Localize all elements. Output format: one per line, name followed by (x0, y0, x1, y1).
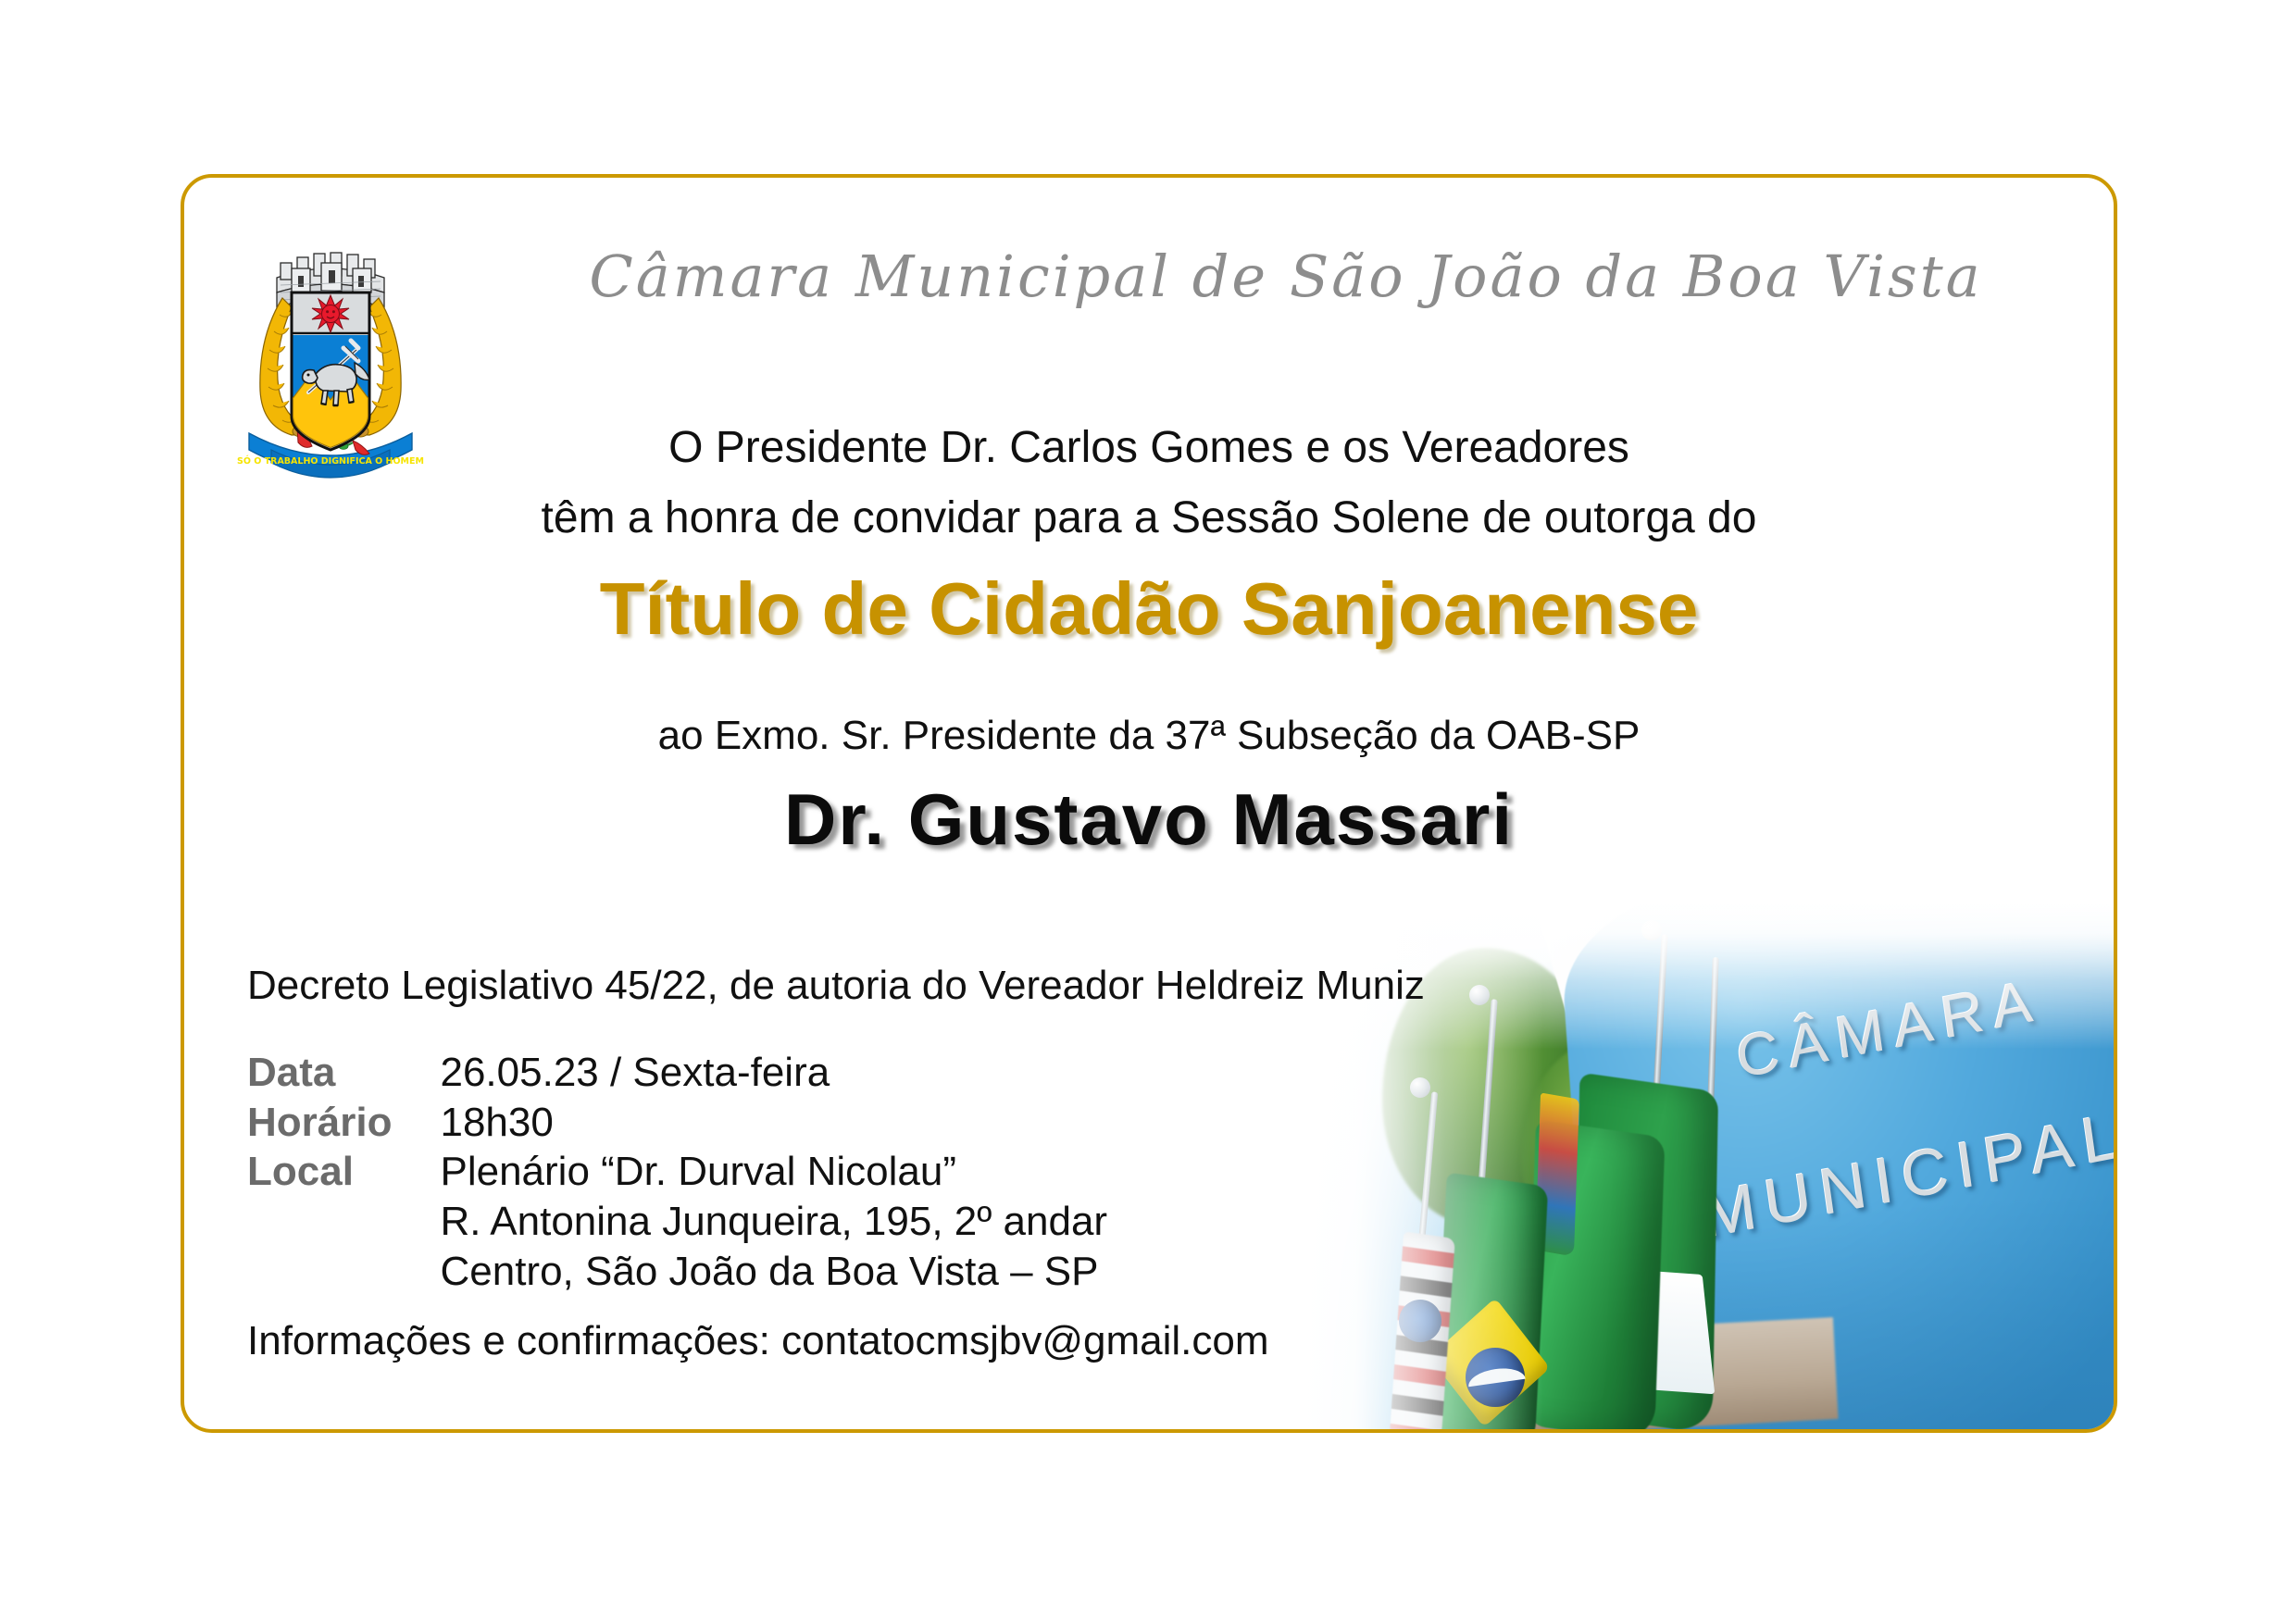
table-row: Data 26.05.23 / Sexta-feira (247, 1048, 1107, 1098)
table-row: Centro, São João da Boa Vista – SP (247, 1247, 1107, 1297)
award-title: Título de Cidadão Sanjoanense (184, 566, 2114, 652)
page-title: Câmara Municipal de São João da Boa Vist… (490, 243, 2082, 310)
detail-value-horario: 18h30 (440, 1098, 1107, 1148)
detail-value-address-line-1: R. Antonina Junqueira, 195, 2º andar (440, 1197, 1107, 1247)
contact-line: Informações e confirmações: contatocmsjb… (247, 1318, 1269, 1364)
pavement (1444, 1317, 1838, 1429)
flag-pole-finial (1410, 1077, 1430, 1098)
recipient-prefix: ao Exmo. Sr. Presidente da 37ª Subseção … (184, 713, 2114, 759)
event-details-table: Data 26.05.23 / Sexta-feira Horário 18h3… (247, 1048, 1107, 1296)
table-row: R. Antonina Junqueira, 195, 2º andar (247, 1197, 1107, 1247)
detail-value-data: 26.05.23 / Sexta-feira (440, 1048, 1107, 1098)
wall-sign-text-camara: CÂMARA (1732, 965, 2045, 1091)
invitation-card: CÂMARA MUNICIPAL (181, 174, 2117, 1433)
intro-line-1: O Presidente Dr. Carlos Gomes e os Verea… (184, 422, 2114, 473)
decree-line: Decreto Legislativo 45/22, de autoria do… (247, 963, 1425, 1009)
detail-label-spacer (247, 1197, 440, 1247)
detail-value-local: Plenário “Dr. Durval Nicolau” (440, 1147, 1107, 1197)
flag-brazil-banner (1466, 1365, 1525, 1387)
flag-brazil-globe (1466, 1348, 1525, 1407)
table-row: Local Plenário “Dr. Durval Nicolau” (247, 1147, 1107, 1197)
building-blue-wall (1556, 902, 2114, 1429)
flag-brazil-diamond (1429, 1298, 1551, 1427)
building-wall-shading (1567, 1187, 2114, 1429)
flag-pole (1462, 999, 1497, 1414)
detail-label-horario: Horário (247, 1098, 440, 1148)
flag-partial (1535, 1092, 1579, 1256)
flag-pole (1636, 934, 1667, 1415)
flag-municipal (1574, 1073, 1718, 1429)
tree-foliage-icon (1521, 1040, 1688, 1272)
flag-sao-paulo-state (1389, 1231, 1455, 1429)
detail-value-address-line-2: Centro, São João da Boa Vista – SP (440, 1247, 1107, 1297)
intro-line-2: têm a honra de convidar para a Sessão So… (184, 492, 2114, 543)
flag-pole-finial (1469, 985, 1490, 1005)
flag-pole (1404, 1091, 1438, 1414)
recipient-name: Dr. Gustavo Massari (184, 778, 2114, 862)
flag-pole-finial (1641, 920, 1662, 940)
table-row: Horário 18h30 (247, 1098, 1107, 1148)
flag-municipal-stripe (1633, 1270, 1716, 1395)
flag-sao-paulo-medallion (1399, 1300, 1441, 1342)
detail-label-local: Local (247, 1147, 440, 1197)
flag-brazil-second (1526, 1119, 1666, 1429)
detail-label-data: Data (247, 1048, 440, 1098)
detail-label-spacer (247, 1247, 440, 1297)
event-details-block: Data 26.05.23 / Sexta-feira Horário 18h3… (247, 1048, 1107, 1296)
flag-brazil (1433, 1173, 1549, 1429)
building-soffit (1539, 902, 1818, 1211)
wall-sign-text-municipal: MUNICIPAL (1698, 1097, 2114, 1252)
flag-pole (1696, 957, 1718, 1420)
